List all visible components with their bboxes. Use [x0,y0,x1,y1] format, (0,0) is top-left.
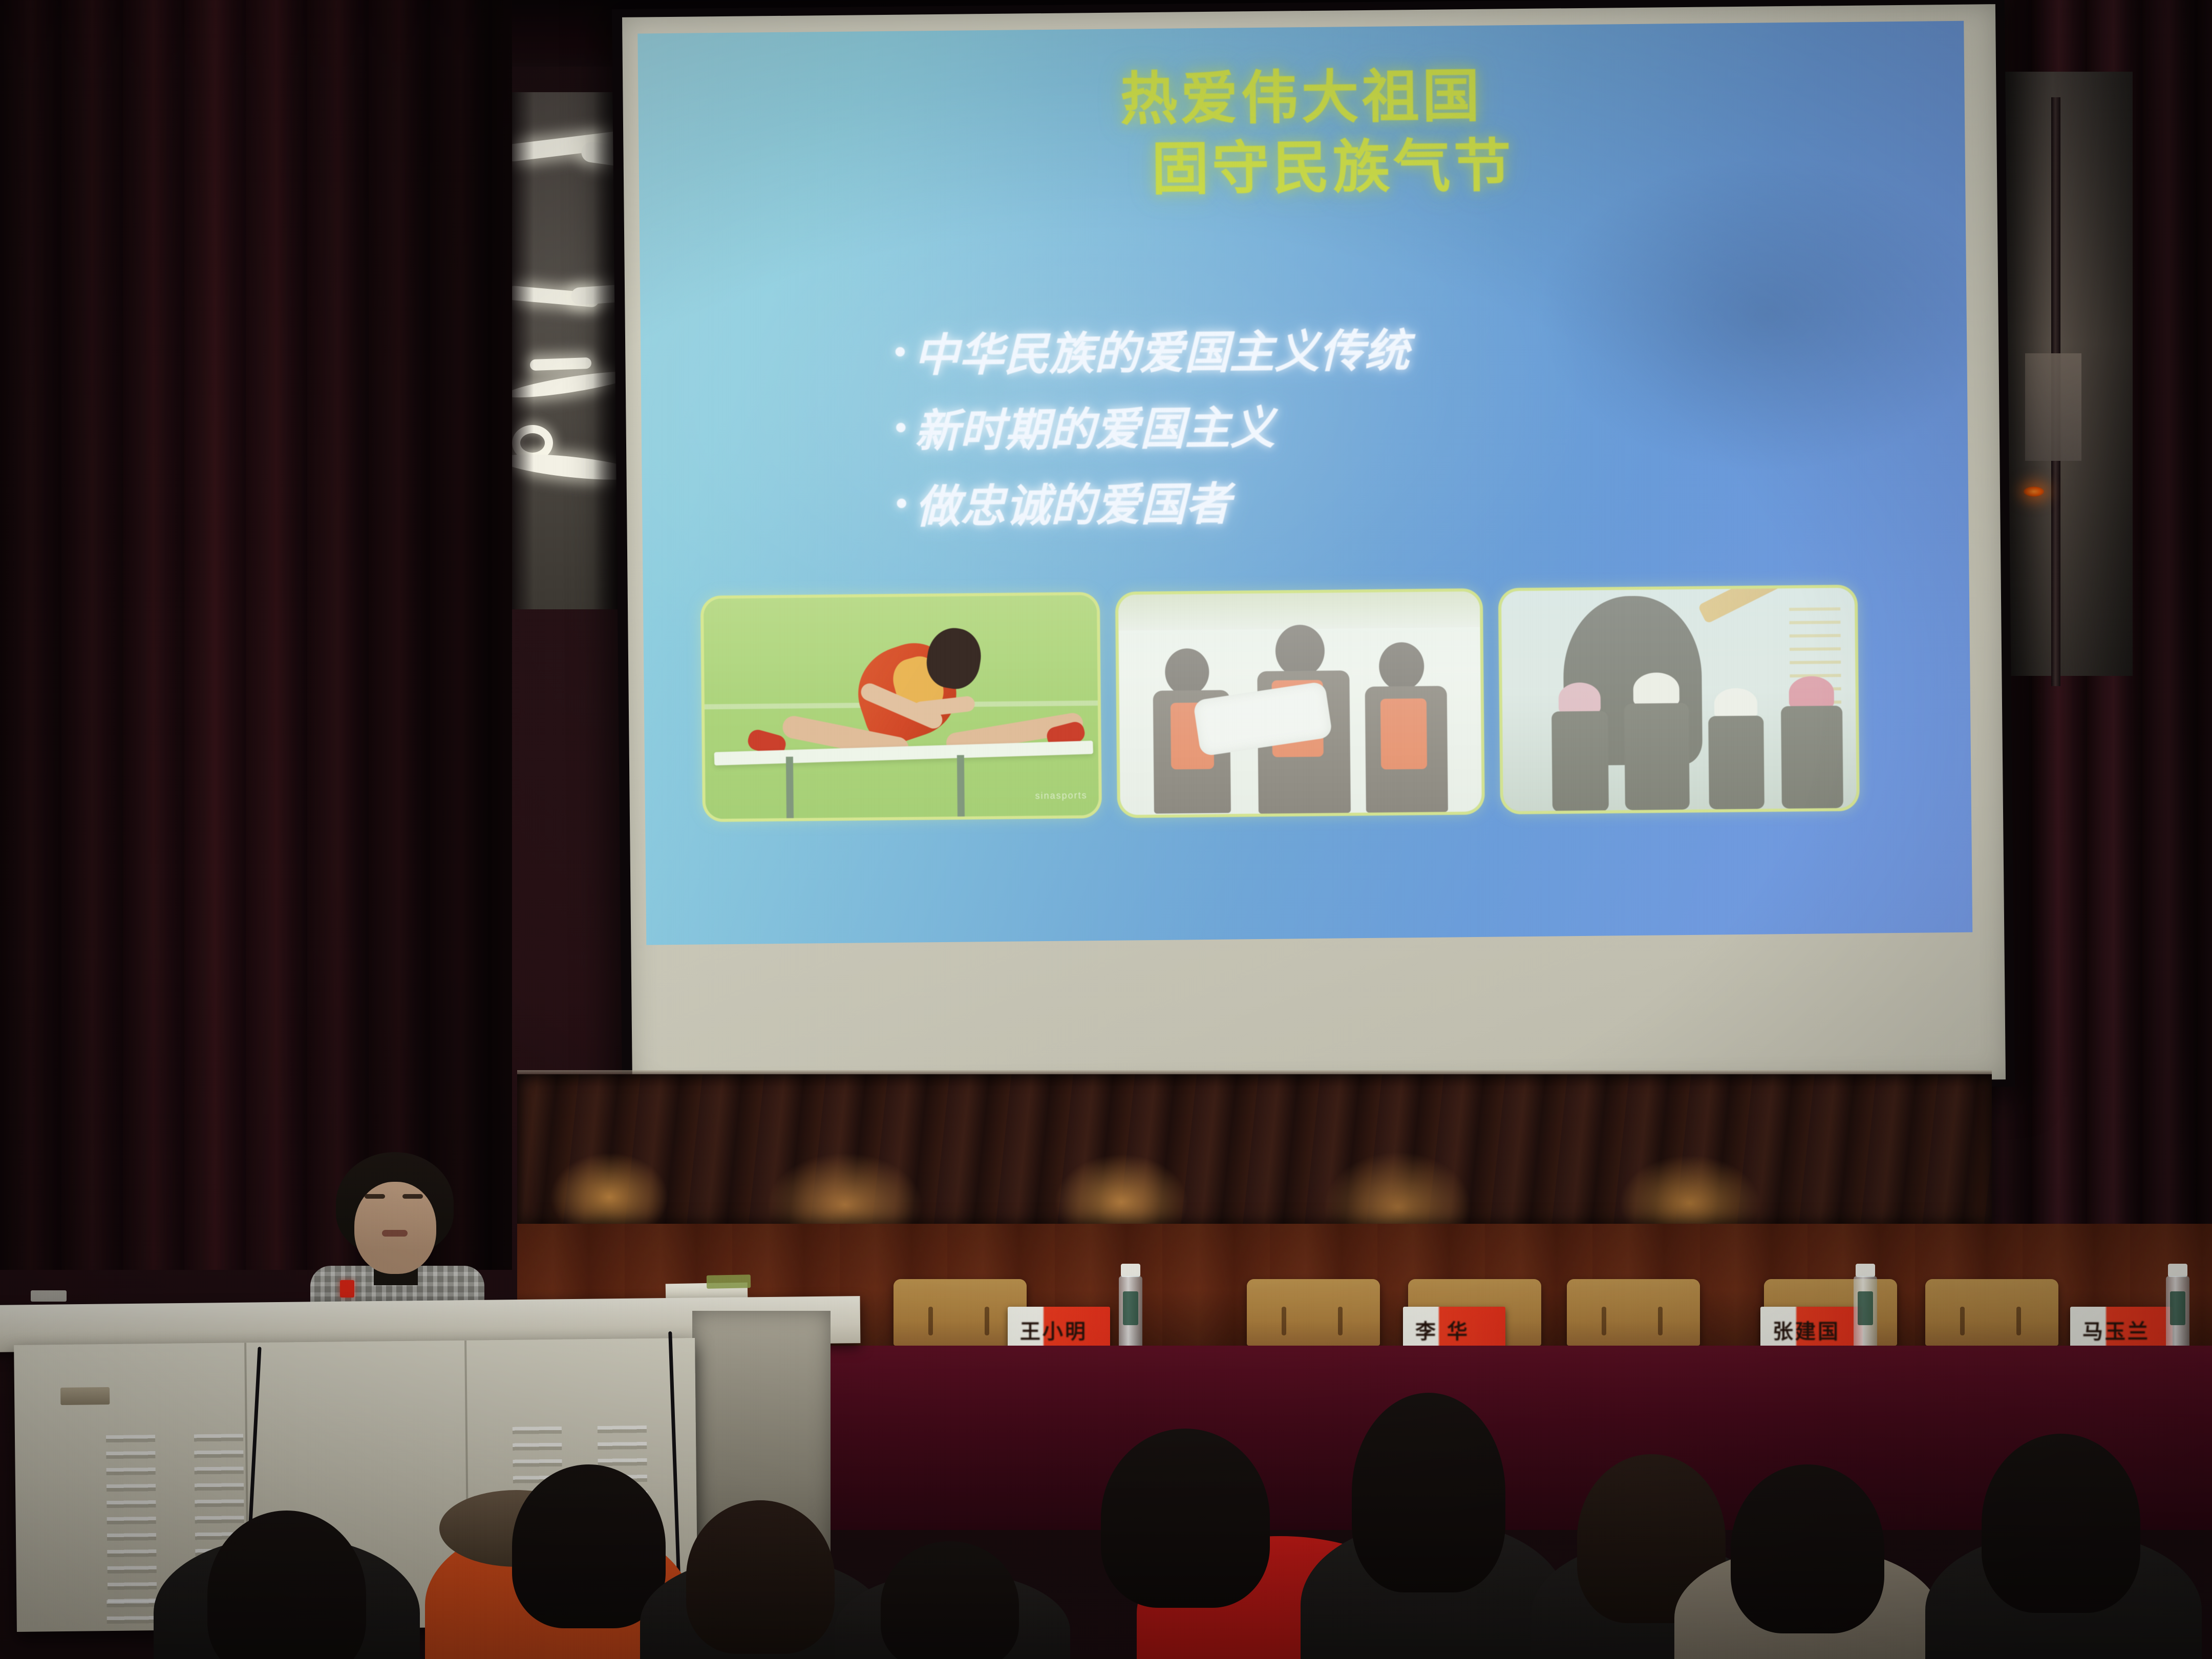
speaker-presenter [287,1152,502,1321]
name-placard: 马玉兰 [2070,1307,2173,1350]
name-placard-text: 张建国 [1773,1315,1840,1345]
projection-screen: 热爱伟大祖国 固守民族气节 •中华民族的爱国主义传统 •新时期的爱国主义 •做忠… [612,0,2015,1100]
stage-chair [1247,1279,1380,1346]
red-badge-icon [340,1280,354,1298]
slide-bullet-1-text: 中华民族的爱国主义传统 [913,324,1410,381]
water-bottle [1119,1264,1142,1354]
audience-head [207,1511,366,1659]
desk-object [31,1290,67,1302]
slide-bullet-2-text: 新时期的爱国主义 [914,401,1275,458]
slide-bullet-list: •中华民族的爱国主义传统 •新时期的爱国主义 •做忠诚的爱国者 [891,309,1866,545]
stage-chair [1925,1279,2058,1346]
wall-mounted-box [2025,353,2081,461]
audience-foreground [0,1413,2212,1659]
construction-rescue-photo [1501,588,1857,812]
slide-title-line-1: 热爱伟大祖国 [1120,63,1483,133]
stage-chair [894,1279,1027,1346]
water-bottle [2166,1264,2189,1354]
name-placard-text: 李 华 [1415,1315,1470,1345]
screen-frame: 热爱伟大祖国 固守民族气节 •中华民族的爱国主义传统 •新时期的爱国主义 •做忠… [622,4,2006,1093]
slide-title: 热爱伟大祖国 固守民族气节 [638,57,1966,209]
presentation-slide: 热爱伟大祖国 固守民族气节 •中华民族的爱国主义传统 •新时期的爱国主义 •做忠… [637,21,1972,945]
name-placard: 张建国 [1760,1307,1863,1350]
audience-head [1982,1434,2140,1613]
photo-watermark: sinasports [1035,790,1087,801]
name-placard: 李 华 [1403,1307,1505,1350]
bullet-marker-icon: • [892,413,914,444]
bullet-marker-icon: • [891,337,914,368]
neon-light-panel [509,92,620,609]
water-bottle [1854,1264,1877,1354]
audience-head [1101,1429,1270,1608]
orange-indicator-led-icon [2024,486,2044,497]
bullet-marker-icon: • [893,488,916,520]
stage-curtain-left [0,0,512,1270]
cabinet-nameplate [60,1387,110,1405]
slide-bullet-3: •做忠诚的爱国者 [892,460,1866,545]
slide-bullet-1: •中华民族的爱国主义传统 [891,309,1865,394]
name-placard-text: 王小明 [1020,1315,1088,1345]
flood-rescue-photo [1118,591,1482,815]
stage-backdrop-mural [517,1074,1992,1228]
desk-object-green [707,1274,751,1288]
audience-head [512,1464,666,1628]
name-placard: 王小明 [1008,1307,1110,1350]
slide-title-line-2: 固守民族气节 [639,126,1965,209]
slide-bullet-2: •新时期的爱国主义 [892,384,1865,469]
audience-head [881,1541,1019,1659]
audience-head [1352,1393,1505,1592]
auditorium-scene: 热爱伟大祖国 固守民族气节 •中华民族的爱国主义传统 •新时期的爱国主义 •做忠… [0,0,2212,1659]
name-placard-text: 马玉兰 [2082,1315,2150,1345]
slide-photo-row: sinasports [704,587,1919,819]
audience-head [1731,1464,1884,1633]
stage-chair [1567,1279,1700,1346]
audience-head [686,1500,835,1654]
slide-bullet-3-text: 做忠诚的爱国者 [915,477,1231,533]
hurdler-photo: sinasports [704,595,1099,819]
